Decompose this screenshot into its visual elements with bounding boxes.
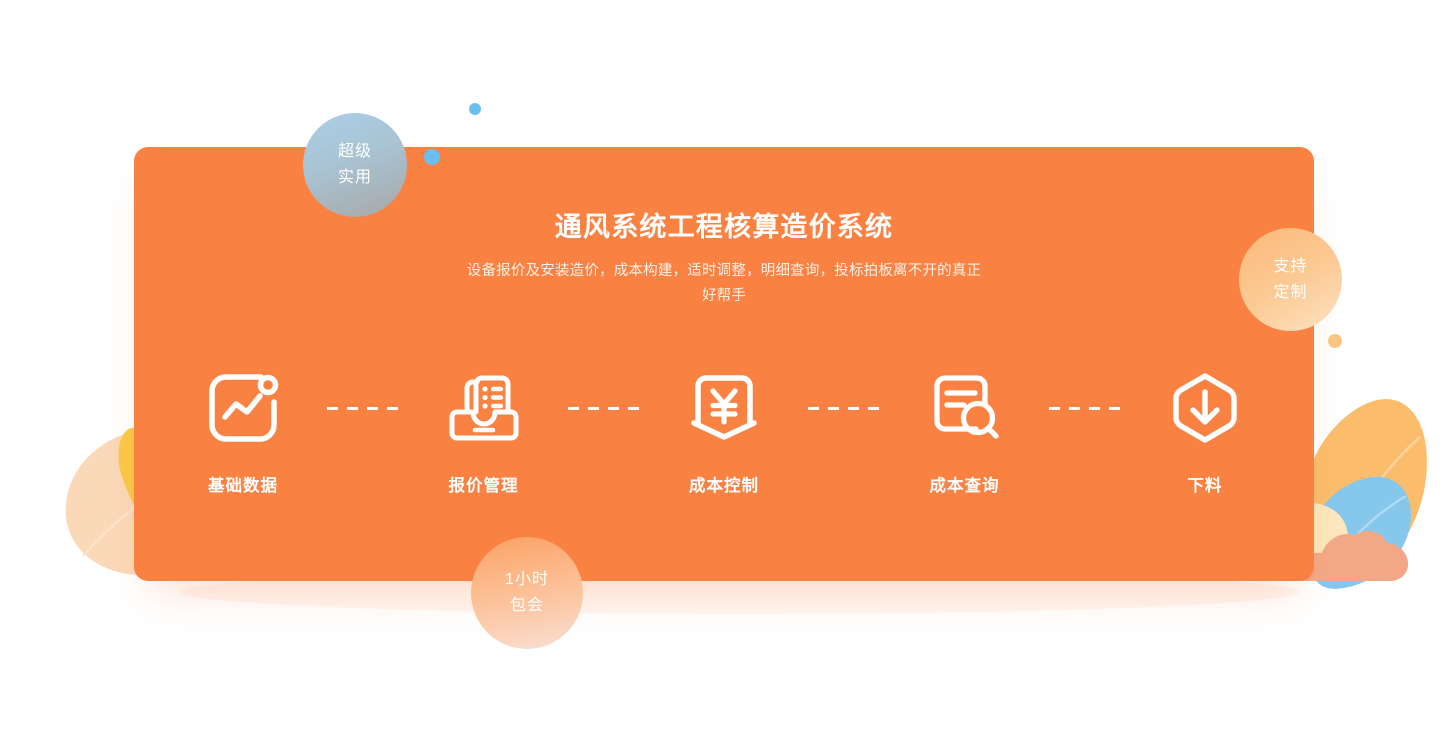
badge-line-1: 1小时 [505, 567, 549, 593]
badge-supports-customization: 支持 定制 [1239, 228, 1342, 331]
badge-line-1: 超级 [338, 139, 372, 165]
blue-dot-large [424, 149, 440, 165]
blue-dot-small [469, 103, 481, 115]
feature-connector [808, 407, 880, 410]
feature-label: 报价管理 [449, 472, 519, 496]
feature-item-cost-control[interactable]: 成本控制 [665, 365, 783, 496]
feature-label: 下料 [1188, 472, 1223, 496]
badge-line-2: 包会 [510, 593, 544, 619]
feature-connector [1049, 407, 1121, 410]
promo-banner-stage: 通风系统工程核算造价系统 设备报价及安装造价，成本构建，适时调整，明细查询，投标… [0, 0, 1440, 730]
badge-one-hour-mastery: 1小时 包会 [471, 537, 583, 649]
feature-label: 成本控制 [689, 472, 759, 496]
badge-line-2: 定制 [1273, 280, 1307, 306]
orange-dot [1328, 334, 1342, 348]
hexagon-download-icon [1162, 365, 1248, 451]
badge-line-1: 支持 [1273, 254, 1307, 280]
page-subtitle: 设备报价及安装造价，成本构建，适时调整，明细查询，投标拍板离不开的真正好帮手 [464, 259, 984, 309]
right-blue-leaf-icon [1309, 477, 1412, 589]
feature-label: 基础数据 [208, 472, 278, 496]
document-search-icon [922, 365, 1008, 451]
yuan-banner-icon [681, 365, 767, 451]
feature-connector [568, 407, 640, 410]
feature-item-material-cutting[interactable]: 下料 [1146, 365, 1264, 496]
feature-item-cost-query[interactable]: 成本查询 [906, 365, 1024, 496]
feature-item-basic-data[interactable]: 基础数据 [184, 365, 302, 496]
feature-label: 成本查询 [930, 472, 1000, 496]
feature-item-quote-management[interactable]: 报价管理 [425, 365, 543, 496]
badge-super-useful: 超级 实用 [303, 113, 407, 217]
page-title: 通风系统工程核算造价系统 [134, 211, 1314, 243]
badge-line-2: 实用 [338, 165, 372, 191]
feature-connector [327, 407, 399, 410]
right-orange-leaf-icon [1302, 399, 1427, 586]
chart-card-icon [200, 365, 286, 451]
feature-list: 基础数据 [184, 365, 1264, 525]
promo-card: 通风系统工程核算造价系统 设备报价及安装造价，成本构建，适时调整，明细查询，投标… [134, 147, 1314, 581]
inbox-document-icon [441, 365, 527, 451]
